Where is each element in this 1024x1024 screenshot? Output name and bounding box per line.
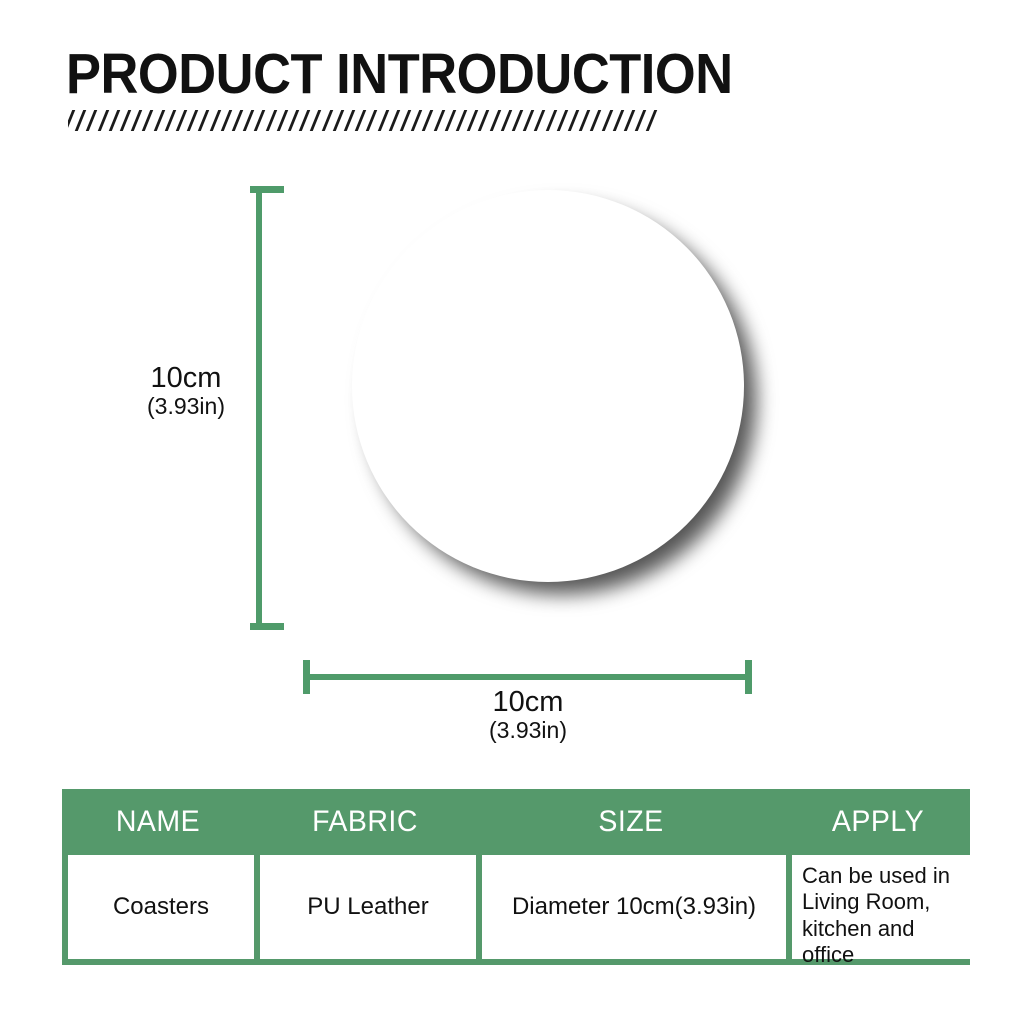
title-slash-mark bbox=[377, 110, 388, 131]
title-slash-mark bbox=[187, 110, 198, 131]
title-slash-mark bbox=[344, 110, 355, 131]
column-header-fabric: FABRIC bbox=[260, 789, 471, 855]
horizontal-dimension-label: 10cm (3.93in) bbox=[408, 686, 648, 744]
title-slash-mark bbox=[109, 110, 120, 131]
title-slash-mark bbox=[355, 110, 366, 131]
title-slash-mark bbox=[153, 110, 164, 131]
title-slash-mark bbox=[512, 110, 523, 131]
title-slash-mark bbox=[321, 110, 332, 131]
dimension-cap-right bbox=[745, 660, 752, 694]
title-slash-mark bbox=[277, 110, 288, 131]
title-slash-mark bbox=[209, 110, 220, 131]
cell-name: Coasters bbox=[68, 855, 254, 959]
title-slash-mark bbox=[456, 110, 467, 131]
title-slash-mark bbox=[232, 110, 243, 131]
title-slash-mark bbox=[557, 110, 568, 131]
title-slash-mark bbox=[299, 110, 310, 131]
title-slash-mark bbox=[568, 110, 579, 131]
title-slash-mark bbox=[265, 110, 276, 131]
title-slash-mark bbox=[198, 110, 209, 131]
title-slash-mark bbox=[333, 110, 344, 131]
title-slash-mark bbox=[422, 110, 433, 131]
title-slash-mark bbox=[579, 110, 590, 131]
title-slash-mark bbox=[389, 110, 400, 131]
column-header-name: NAME bbox=[67, 789, 249, 855]
cell-apply: Can be used in Living Room, kitchen and … bbox=[792, 855, 976, 959]
title-slash-mark bbox=[624, 110, 635, 131]
title-slash-mark bbox=[75, 110, 86, 131]
page-title: PRODUCT INTRODUCTION bbox=[66, 46, 636, 103]
title-slash-mark bbox=[400, 110, 411, 131]
title-slash-mark bbox=[97, 110, 108, 131]
title-slash-mark bbox=[646, 110, 657, 131]
title-slash-mark bbox=[68, 110, 75, 131]
title-slash-mark bbox=[288, 110, 299, 131]
title-slash-mark bbox=[86, 110, 97, 131]
title-slash-mark bbox=[165, 110, 176, 131]
coaster-disc bbox=[352, 190, 744, 582]
dimension-cap-bottom bbox=[250, 623, 284, 630]
title-slash-mark bbox=[176, 110, 187, 131]
title-slash-mark bbox=[433, 110, 444, 131]
column-header-size: SIZE bbox=[484, 789, 779, 855]
title-slash-mark bbox=[467, 110, 478, 131]
dimension-shaft-horizontal bbox=[307, 674, 751, 680]
vertical-dimension-line bbox=[250, 186, 290, 634]
cell-fabric: PU Leather bbox=[260, 855, 476, 959]
title-slash-mark bbox=[131, 110, 142, 131]
title-slash-mark bbox=[478, 110, 489, 131]
title-slash-mark bbox=[534, 110, 545, 131]
title-slash-mark bbox=[120, 110, 131, 131]
title-slash-mark bbox=[310, 110, 321, 131]
product-image bbox=[352, 190, 752, 630]
title-block: PRODUCT INTRODUCTION bbox=[66, 46, 686, 103]
title-slash-mark bbox=[613, 110, 624, 131]
dimension-shaft-vertical bbox=[256, 190, 262, 630]
title-slash-mark bbox=[254, 110, 265, 131]
spec-table: NAME FABRIC SIZE APPLY Coasters PU Leath… bbox=[62, 789, 970, 965]
spec-table-header-row: NAME FABRIC SIZE APPLY bbox=[62, 789, 970, 855]
title-slash-mark bbox=[590, 110, 601, 131]
horizontal-dimension-cm: 10cm bbox=[408, 686, 648, 718]
title-underline-decoration bbox=[68, 110, 658, 132]
title-slash-mark bbox=[489, 110, 500, 131]
cell-size: Diameter 10cm(3.93in) bbox=[482, 855, 786, 959]
title-slash-mark bbox=[601, 110, 612, 131]
title-slash-mark bbox=[635, 110, 646, 131]
title-slash-mark bbox=[411, 110, 422, 131]
vertical-dimension-cm: 10cm bbox=[126, 362, 246, 394]
title-slash-mark bbox=[243, 110, 254, 131]
title-slash-mark bbox=[501, 110, 512, 131]
vertical-dimension-in: (3.93in) bbox=[126, 394, 246, 420]
title-slash-mark bbox=[445, 110, 456, 131]
title-slash-mark bbox=[366, 110, 377, 131]
table-row: Coasters PU Leather Diameter 10cm(3.93in… bbox=[62, 855, 970, 965]
vertical-dimension-label: 10cm (3.93in) bbox=[126, 362, 246, 420]
title-slash-mark bbox=[221, 110, 232, 131]
title-slash-mark bbox=[142, 110, 153, 131]
title-slash-mark bbox=[523, 110, 534, 131]
title-slash-mark bbox=[545, 110, 556, 131]
column-header-apply: APPLY bbox=[791, 789, 966, 855]
horizontal-dimension-in: (3.93in) bbox=[408, 718, 648, 744]
